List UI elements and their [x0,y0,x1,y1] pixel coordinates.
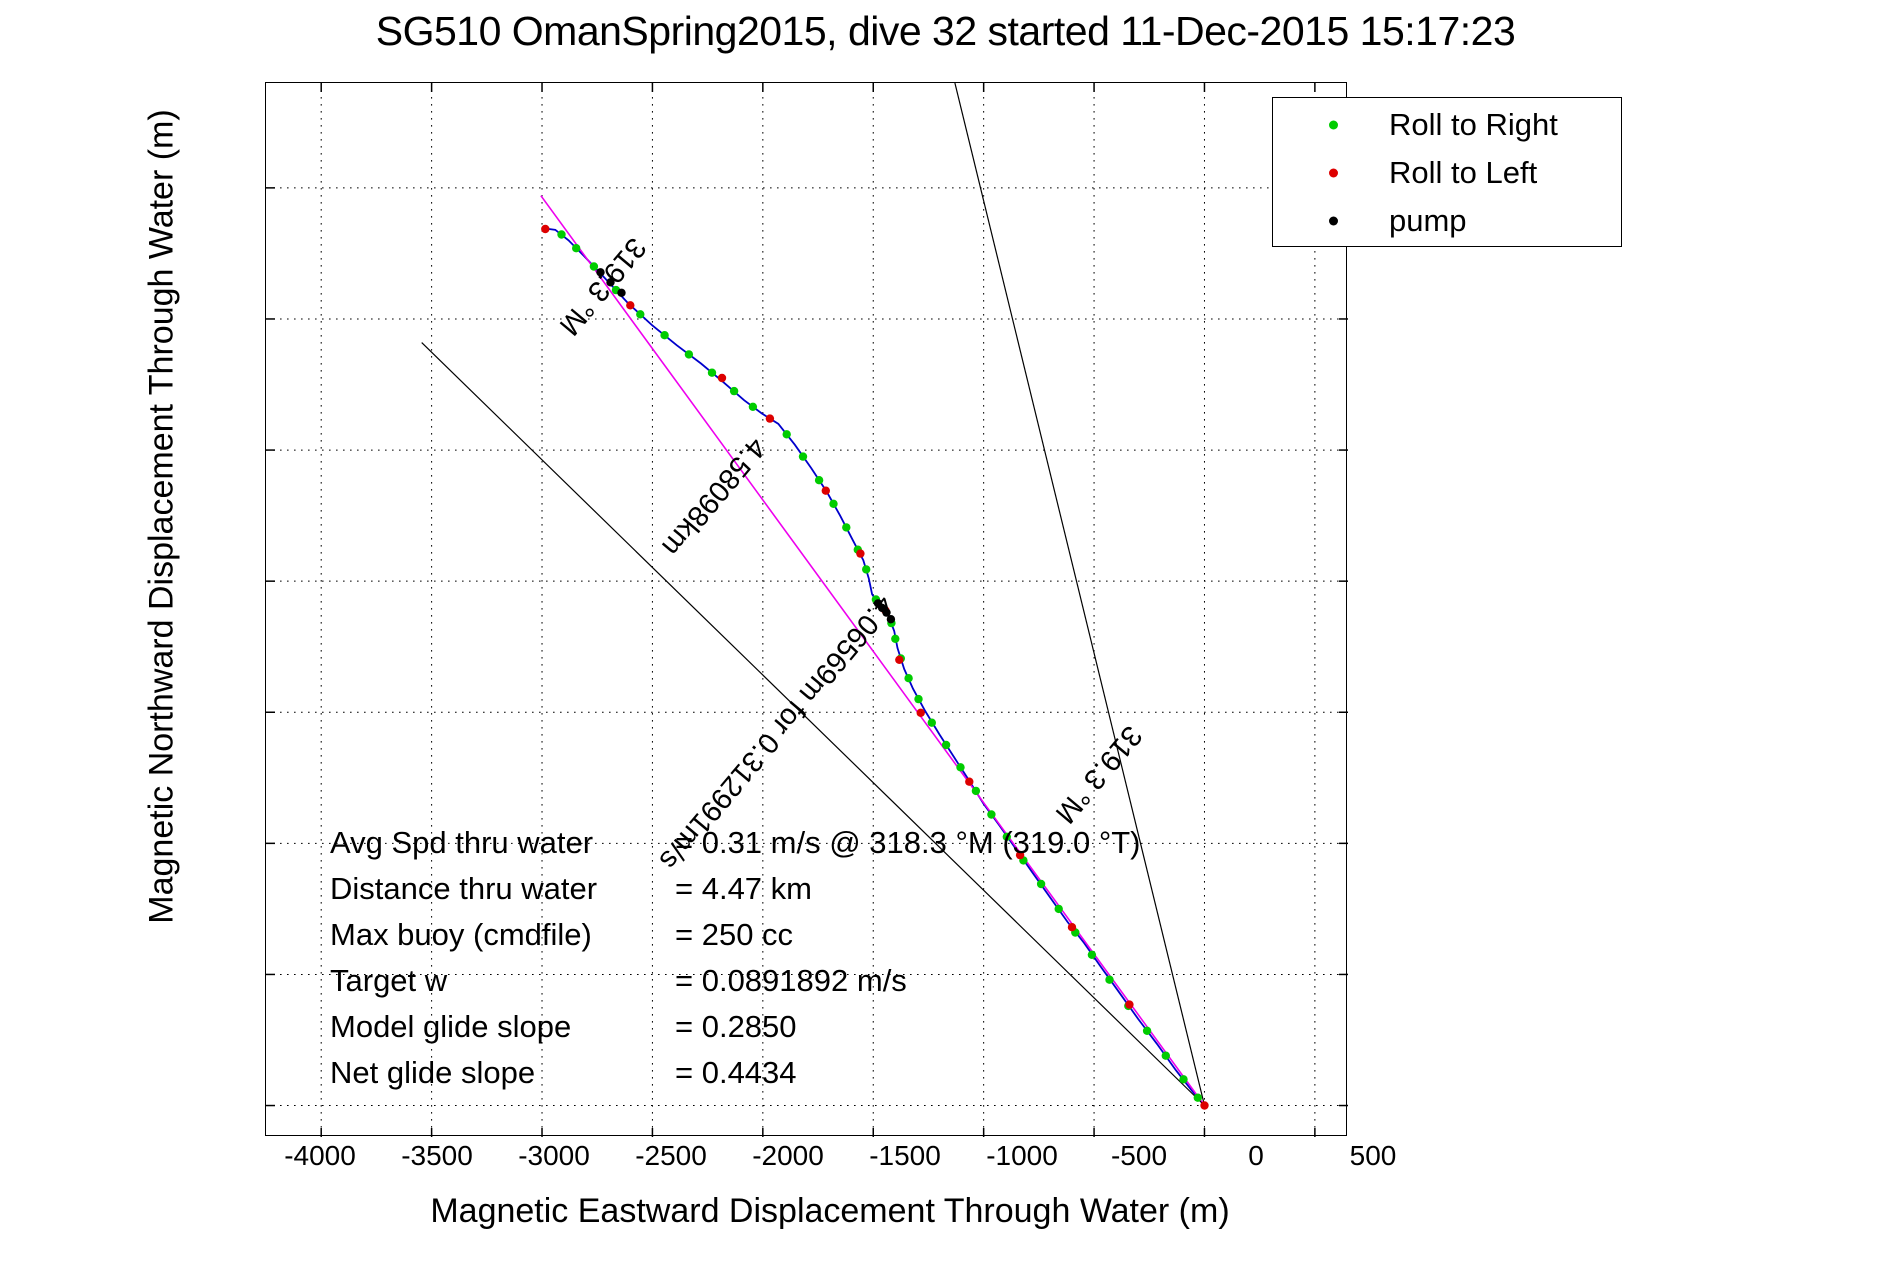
stat-row: Model glide slope= 0.2850 [330,1004,1140,1050]
stat-key: Model glide slope [330,1004,675,1050]
legend-item-roll-to-left[interactable]: Roll to Left [1273,148,1623,198]
stat-row: Max buoy (cmdfile)= 250 cc [330,912,1140,958]
stat-row: Avg Spd thru water= 0.31 m/s @ 318.3 °M … [330,820,1140,866]
legend-label: Roll to Right [1389,107,1558,143]
stat-value: = 4.47 km [675,866,812,912]
x-tick--4000: -4000 [284,1140,356,1172]
legend-label: pump [1389,203,1467,239]
stat-key: Avg Spd thru water [330,820,675,866]
stat-row: Target w= 0.0891892 m/s [330,958,1140,1004]
x-tick--3000: -3000 [518,1140,590,1172]
legend-item-roll-to-right[interactable]: Roll to Right [1273,100,1623,150]
x-tick-500: 500 [1350,1140,1397,1172]
statistics-block: Avg Spd thru water= 0.31 m/s @ 318.3 °M … [330,820,1140,1096]
legend-marker-red-dot [1329,169,1338,178]
x-tick--3500: -3500 [401,1140,473,1172]
y-axis-label: Magnetic Northward Displacement Through … [143,67,182,967]
x-tick--2000: -2000 [752,1140,824,1172]
stat-value: = 0.2850 [675,1004,797,1050]
stat-row: Distance thru water= 4.47 km [330,866,1140,912]
stat-value: = 0.0891892 m/s [675,958,907,1004]
stat-key: Max buoy (cmdfile) [330,912,675,958]
legend-label: Roll to Left [1389,155,1537,191]
stat-key: Net glide slope [330,1050,675,1096]
legend-marker-green-dot [1329,121,1338,130]
x-tick--1000: -1000 [986,1140,1058,1172]
stat-value: = 250 cc [675,912,793,958]
stat-key: Target w [330,958,675,1004]
stat-key: Distance thru water [330,866,675,912]
legend-marker-black-dot [1329,217,1338,226]
stat-row: Net glide slope= 0.4434 [330,1050,1140,1096]
x-tick-0: 0 [1248,1140,1264,1172]
x-tick--1500: -1500 [869,1140,941,1172]
x-axis-label: Magnetic Eastward Displacement Through W… [260,1192,1400,1231]
legend[interactable]: Roll to Right Roll to Left pump [1272,97,1622,247]
x-tick--500: -500 [1111,1140,1167,1172]
stat-value: = 0.4434 [675,1050,797,1096]
legend-item-pump[interactable]: pump [1273,196,1623,246]
page-title: SG510 OmanSpring2015, dive 32 started 11… [0,8,1891,55]
x-tick--2500: -2500 [635,1140,707,1172]
stat-value: = 0.31 m/s @ 318.3 °M (319.0 °T) [675,820,1140,866]
